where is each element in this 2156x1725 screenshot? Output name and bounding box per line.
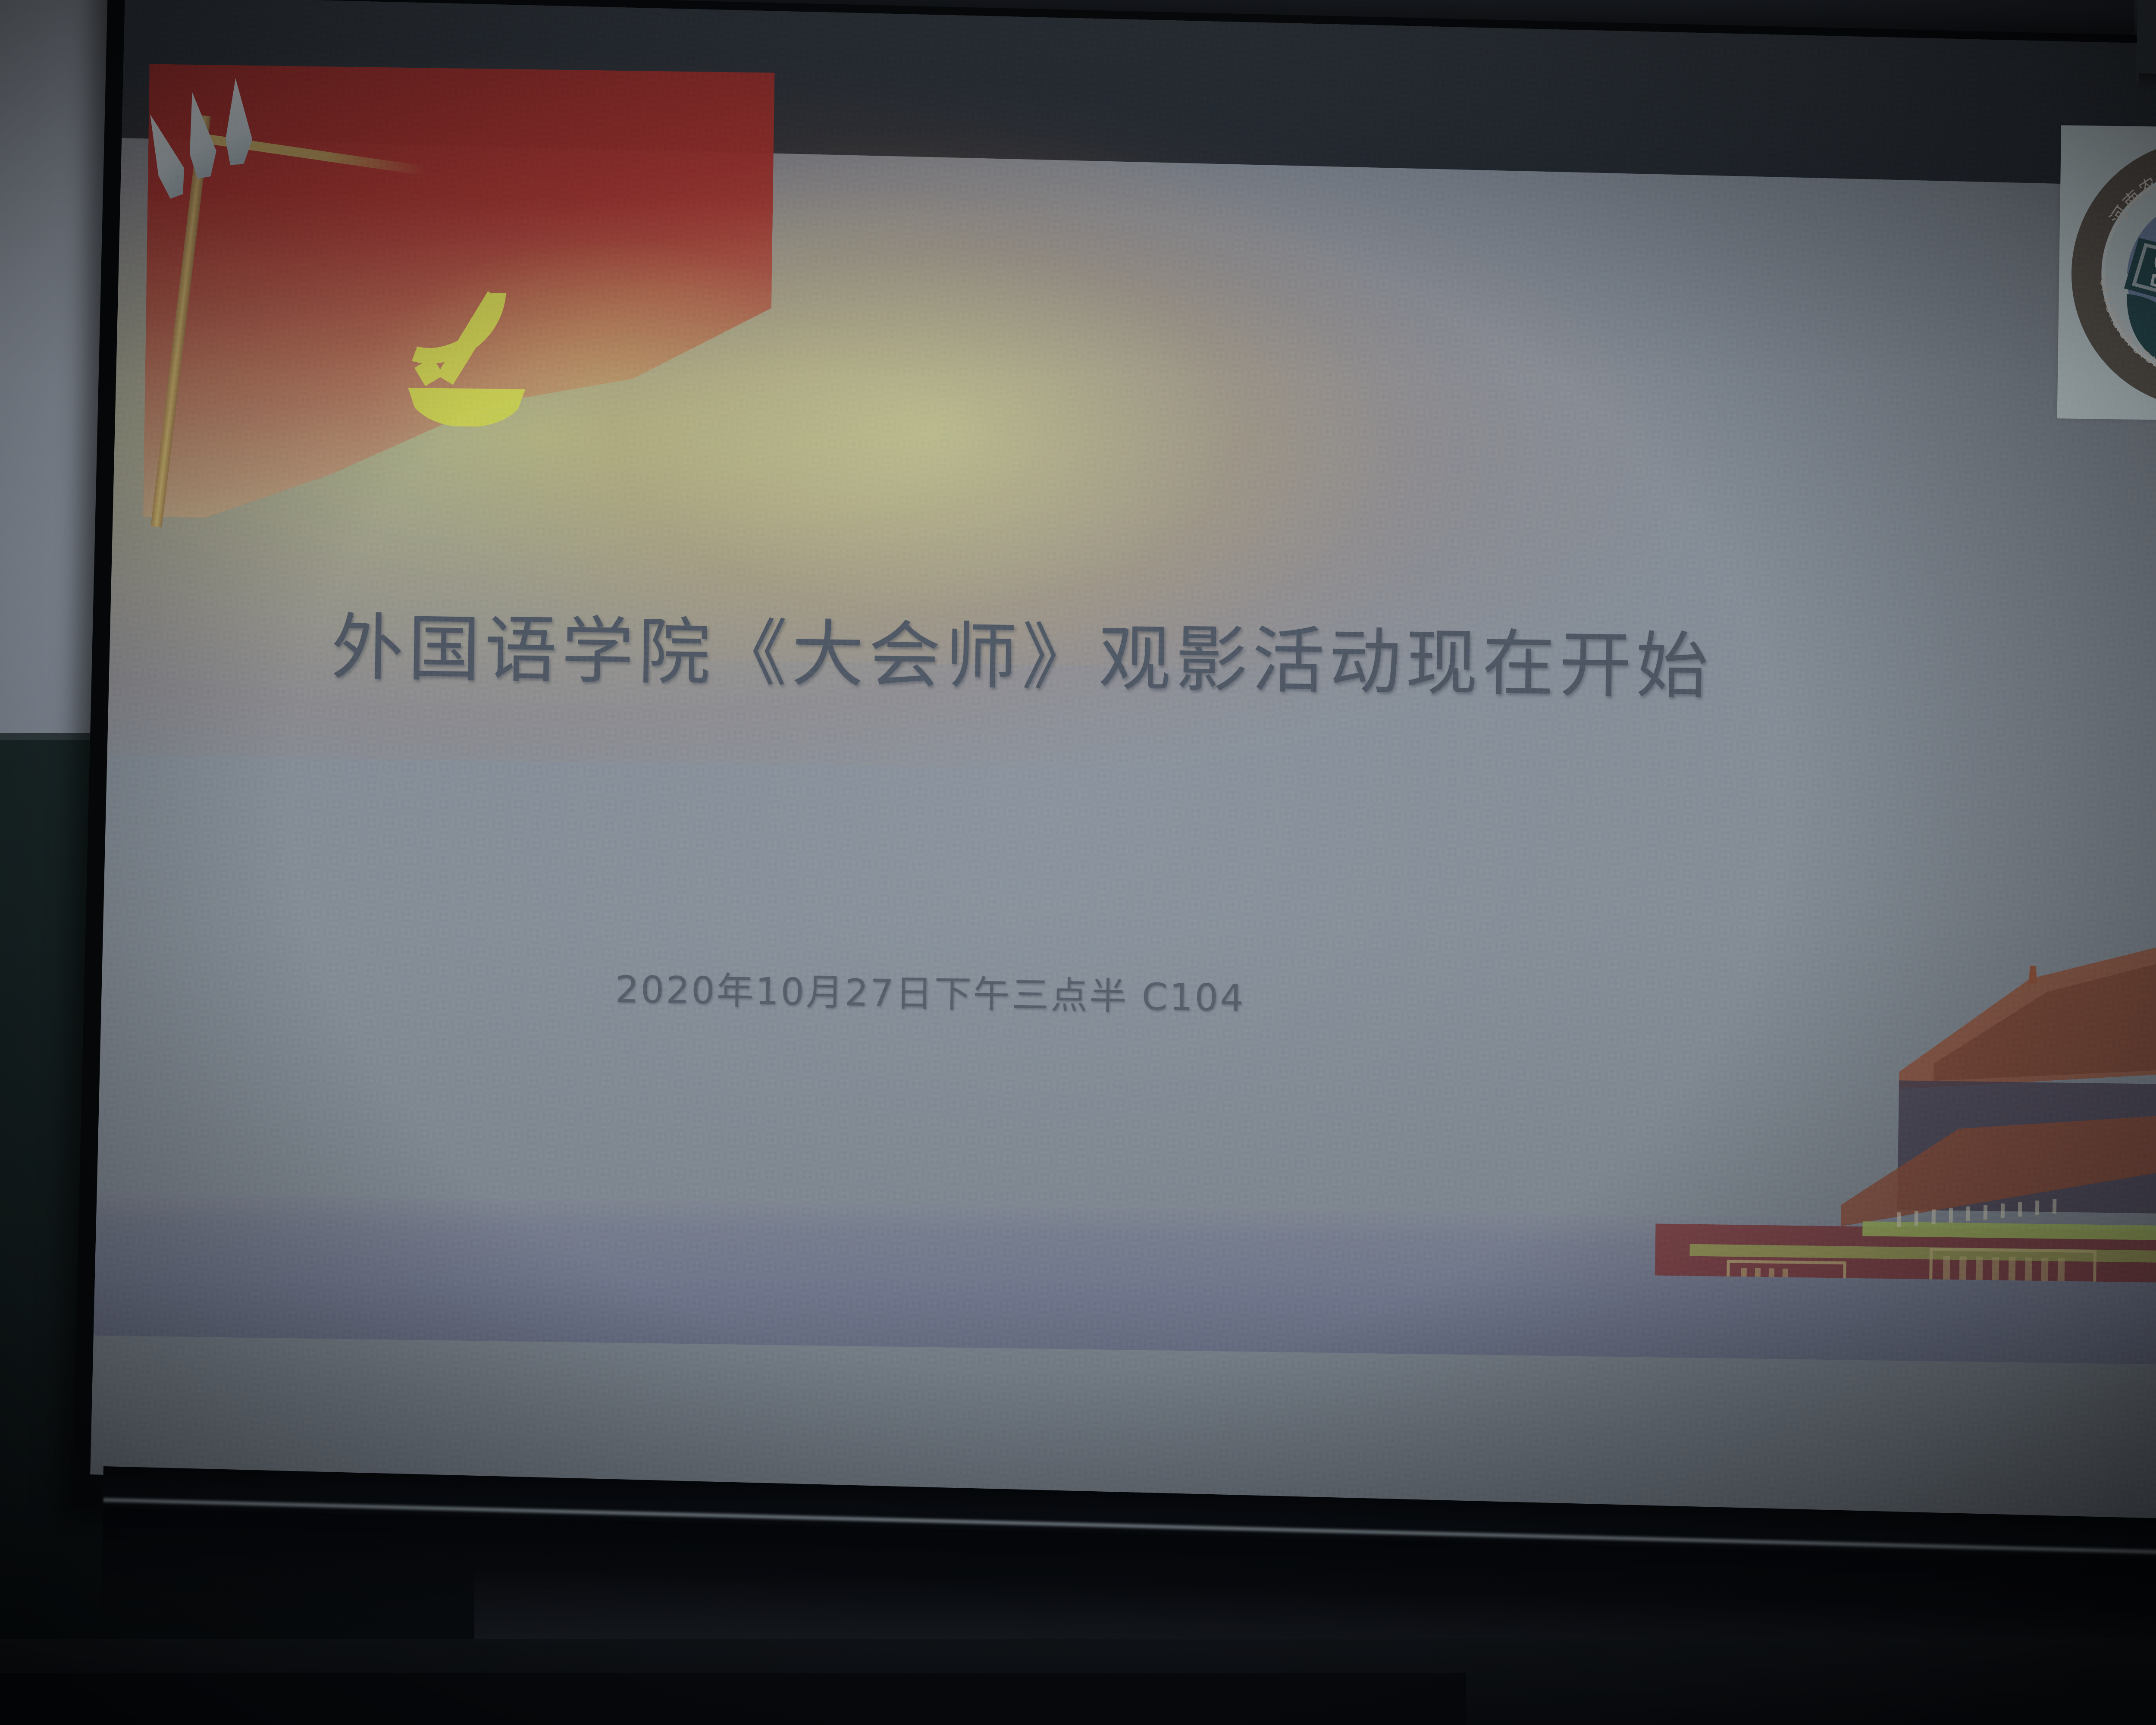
screen-fabric: SFS 1959 河南农业大学外国语学院 SCHOOL OF FOREIGN S… xyxy=(90,0,2156,1528)
projection-screen-assembly[interactable]: SFS 1959 河南农业大学外国语学院 SCHOOL OF FOREIGN S… xyxy=(0,0,2156,1725)
hammer-and-sickle-icon xyxy=(377,283,561,428)
slide-title: 外国语学院《大会师》观影活动现在开始 xyxy=(330,605,2156,717)
school-of-foreign-studies-emblem-icon: SFS 1959 河南农业大学外国语学院 SCHOOL OF FOREIGN S… xyxy=(2063,131,2156,417)
svg-text:SFS: SFS xyxy=(2151,238,2156,300)
school-logo-card: SFS 1959 河南农业大学外国语学院 SCHOOL OF FOREIGN S… xyxy=(2057,125,2156,422)
classroom-scene: SFS 1959 河南农业大学外国语学院 SCHOOL OF FOREIGN S… xyxy=(0,0,2156,1725)
projected-slide: SFS 1959 河南农业大学外国语学院 SCHOOL OF FOREIGN S… xyxy=(90,46,2156,1368)
room-floor-dark xyxy=(0,1673,1466,1725)
tiananmen-gate-illustration xyxy=(1655,844,2156,1287)
cpc-party-flag xyxy=(90,46,904,609)
